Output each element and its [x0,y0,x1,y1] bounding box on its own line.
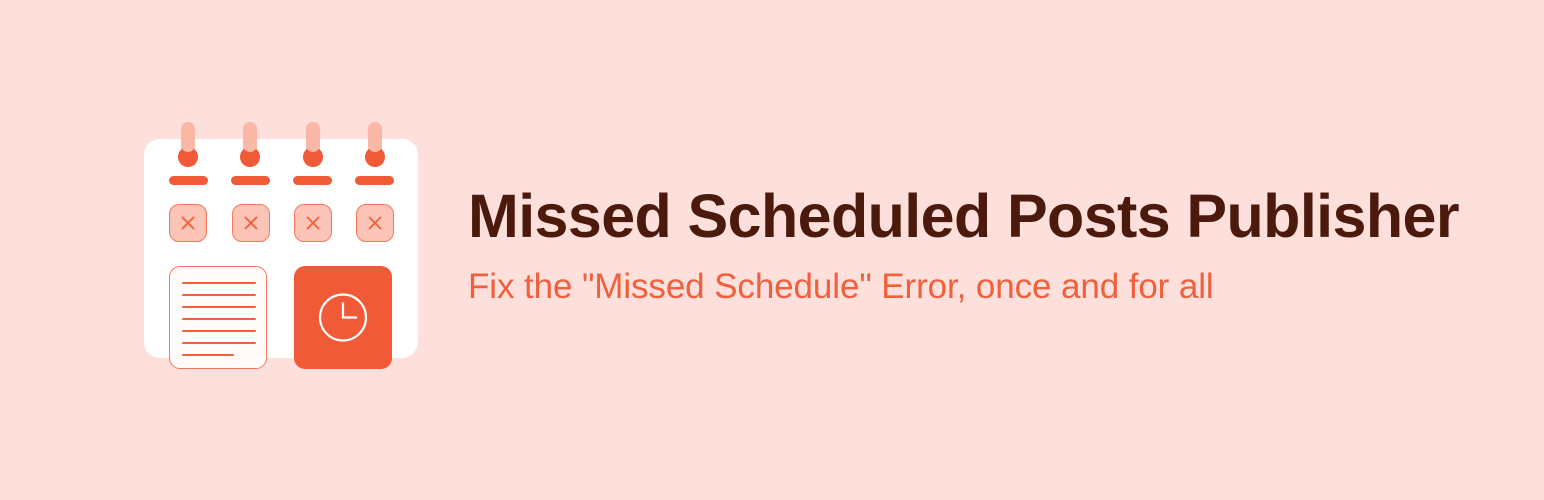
header-dash-2 [231,176,270,185]
binder-ring-3 [303,122,323,176]
page-subtitle: Fix the "Missed Schedule" Error, once an… [468,247,1488,304]
missed-day-3 [294,204,332,242]
document-line [182,294,256,296]
binder-ring-stem-top [181,122,195,152]
binder-ring-stem-top [306,122,320,152]
document-line [182,330,256,332]
missed-day-boxes [144,204,418,246]
plugin-banner: Missed Scheduled Posts Publisher Fix the… [0,0,1544,500]
missed-day-2 [232,204,270,242]
header-dash-1 [169,176,208,185]
post-document [169,266,267,369]
document-line [182,318,256,320]
binder-ring-stem-top [368,122,382,152]
document-line [182,342,256,344]
page-title: Missed Scheduled Posts Publisher [468,186,1488,247]
close-icon [295,205,331,241]
document-line [182,354,234,356]
binder-ring-2 [240,122,260,176]
close-icon [233,205,269,241]
clock-tile [294,266,392,369]
header-dash-3 [293,176,332,185]
banner-text: Missed Scheduled Posts Publisher Fix the… [468,186,1488,304]
binder-rings [144,122,418,180]
header-dash-4 [355,176,394,185]
clock-icon [294,266,392,369]
missed-day-4 [356,204,394,242]
binder-ring-4 [365,122,385,176]
calendar-header-dashes [144,176,418,188]
document-line [182,282,256,284]
close-icon [357,205,393,241]
calendar-icon [144,122,436,372]
binder-ring-1 [178,122,198,176]
binder-ring-stem-top [243,122,257,152]
document-line [182,306,256,308]
close-icon [170,205,206,241]
missed-day-1 [169,204,207,242]
